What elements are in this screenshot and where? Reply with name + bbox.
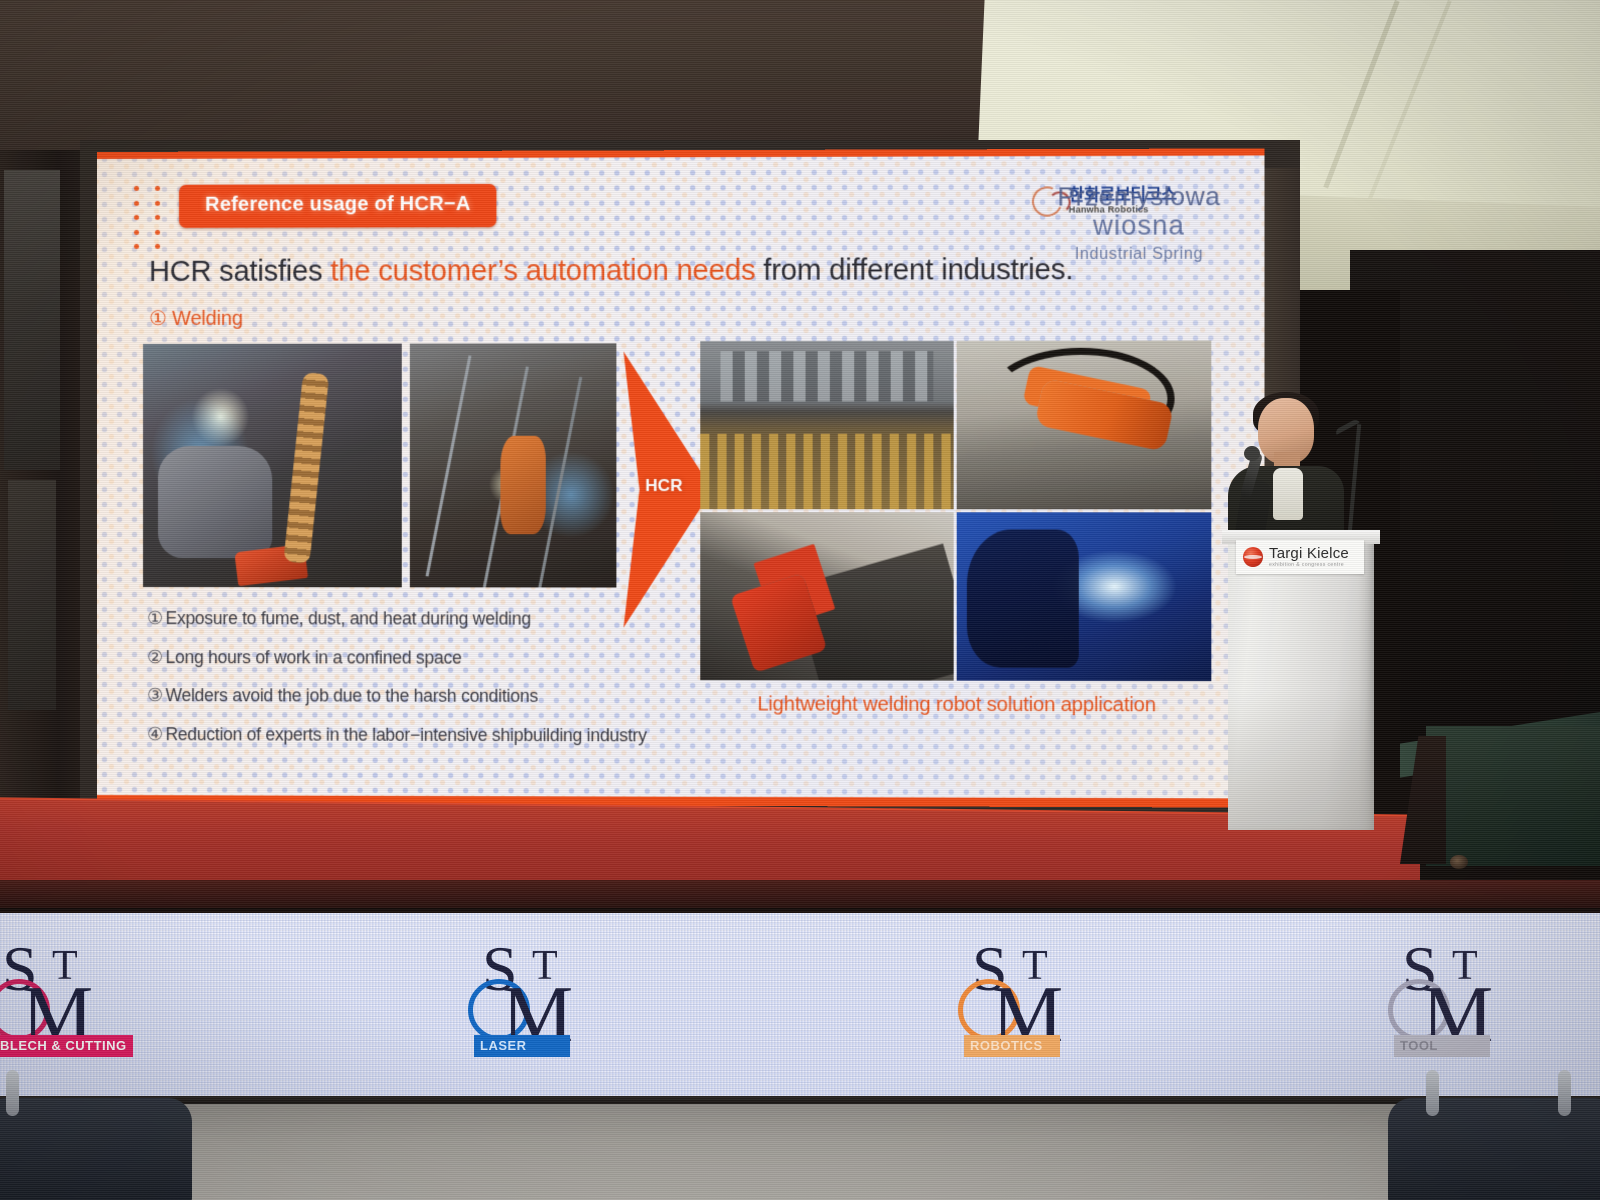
stom-tagline: TOOL [1394,1035,1490,1057]
pain-point-list: ①Exposure to fume, dust, and heat during… [147,610,680,766]
bullet-number: ② [147,647,162,667]
conference-presentation-photo: Reference usage of HCR−A 한화로보티크스 Hanwha … [0,0,1600,1200]
left-pillar-glass-upper [4,170,60,470]
stom-logo-laser: S T M LASER [458,913,658,1098]
list-item: ②Long hours of work in a confined space [147,649,680,667]
stom-tagline: LASER [474,1035,570,1057]
stom-logo-blech-cutting: S T M BLECH & CUTTING [0,913,178,1098]
welding-torch-detail [234,544,308,586]
hanwha-circle-inner-icon [1048,191,1070,213]
stage-front-banner: S T M BLECH & CUTTING S T M LASER S T M [0,913,1600,1098]
podium-shading [1228,690,1374,830]
podium-sign: Targi Kielce exhibition & congress centr… [1236,540,1364,574]
hanwha-robotics-logo: 한화로보티크스 Hanwha Robotics [1032,181,1210,222]
hall-floor [0,1104,1600,1200]
list-item: ①Exposure to fume, dust, and heat during… [147,610,680,628]
list-item: ③Welders avoid the job due to the harsh … [147,687,680,706]
chair-leg [6,1070,19,1116]
stom-tagline: ROBOTICS [964,1035,1060,1057]
lectern-box [1426,726,1600,866]
right-photos-caption: Lightweight welding robot solution appli… [700,693,1213,717]
manual-welding-confined-space-photo [143,344,402,588]
orange-cobot-welding-photo [957,341,1212,510]
lectern-cable-hole [1450,855,1468,869]
speaker-shirt [1273,468,1303,520]
targi-kielce-sphere-icon [1243,547,1263,567]
stom-tagline: BLECH & CUTTING [0,1035,133,1057]
slide-subheading: ① Welding [149,306,243,331]
foreground-chair-left [0,1098,192,1200]
hcr-arrow-label: HCR [633,476,696,496]
left-pillar-glass-lower [8,480,56,710]
headline-accent: the customer’s automation needs [330,255,755,288]
headline-part2: from different industries. [755,254,1073,287]
manual-welding-shipyard-block-photo [410,343,617,587]
foreground-chair-right [1388,1098,1600,1200]
slide-headline: HCR satisfies the customer’s automation … [149,254,1180,289]
chair-leg [1426,1070,1439,1116]
bullet-number: ① [147,608,162,628]
robot-fabrication-line-photo [700,341,953,509]
slide-title-pill: Reference usage of HCR−A [179,184,497,228]
red-cobot-welding-photo [700,512,953,680]
stom-logo-tool: S T M TOOL [1378,913,1578,1098]
chair-leg [1558,1070,1571,1116]
hanwha-logo-en: Hanwha Robotics [1069,203,1149,217]
podium-brand-name: Targi Kielce [1269,546,1349,561]
stom-logo-robotics: S T M ROBOTICS [948,913,1148,1098]
bullet-number: ④ [147,724,162,744]
presentation-slide: Reference usage of HCR−A 한화로보티크스 Hanwha … [97,148,1264,807]
podium-brand-subtitle: exhibition & congress centre [1269,563,1349,568]
microphone-capsule [1244,446,1260,461]
list-item: ④Reduction of experts in the labor−inten… [147,726,680,745]
headline-part1: HCR satisfies [149,256,330,288]
bullet-text: Welders avoid the job due to the harsh c… [165,685,537,706]
bullet-number: ③ [147,685,162,705]
dot-grid-decoration [134,186,168,252]
bullet-text: Reduction of experts in the labor−intens… [165,724,646,745]
bullet-text: Long hours of work in a confined space [165,647,461,668]
hanwha-logo-kr: 한화로보티크스 [1069,186,1177,203]
bullet-text: Exposure to fume, dust, and heat during … [165,608,530,629]
welding-arc-closeup-photo [957,512,1212,681]
